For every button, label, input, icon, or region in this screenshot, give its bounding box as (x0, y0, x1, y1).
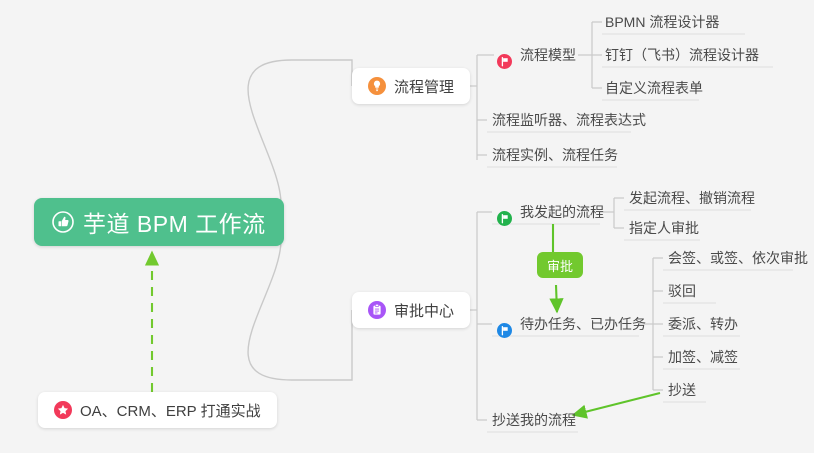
node-custom-form[interactable]: 自定义流程表单 (600, 74, 709, 102)
node-cc[interactable]: 抄送 (663, 376, 702, 404)
node-delegate-transfer[interactable]: 委派、转办 (663, 310, 744, 338)
node-todo-done-tasks[interactable]: 待办任务、已办任务 (492, 310, 652, 338)
tag-label: 审批 (547, 256, 573, 275)
node-label: 委派、转办 (668, 314, 738, 338)
node-label: 流程监听器、流程表达式 (492, 110, 646, 134)
node-instance-task[interactable]: 流程实例、流程任务 (487, 141, 624, 169)
floating-node-integration[interactable]: OA、CRM、ERP 打通实战 (38, 392, 277, 428)
node-reject[interactable]: 驳回 (663, 277, 702, 305)
thumbs-up-icon (52, 211, 74, 233)
node-process-model[interactable]: 流程模型 (492, 41, 582, 69)
node-label: 抄送我的流程 (492, 410, 576, 434)
node-label: 流程实例、流程任务 (492, 145, 618, 169)
lightbulb-icon (368, 77, 386, 95)
floating-node-label: OA、CRM、ERP 打通实战 (80, 400, 261, 421)
node-start-cancel-process[interactable]: 发起流程、撤销流程 (624, 184, 761, 212)
node-label: 发起流程、撤销流程 (629, 188, 755, 212)
tag-approval[interactable]: 审批 (537, 252, 583, 278)
node-label: 驳回 (668, 281, 696, 305)
node-label: 钉钉（飞书）流程设计器 (605, 45, 759, 69)
node-my-initiated-process[interactable]: 我发起的流程 (492, 198, 610, 226)
node-dingtalk-designer[interactable]: 钉钉（飞书）流程设计器 (600, 41, 765, 69)
root-label: 芋道 BPM 工作流 (83, 205, 266, 239)
node-listener-expression[interactable]: 流程监听器、流程表达式 (487, 106, 652, 134)
node-label: 抄送 (668, 380, 696, 404)
node-cc-to-me[interactable]: 抄送我的流程 (487, 406, 582, 434)
branch-process-management[interactable]: 流程管理 (352, 68, 470, 104)
node-label: 加签、减签 (668, 347, 738, 371)
flag-icon (497, 323, 512, 338)
node-add-remove-sign[interactable]: 加签、减签 (663, 343, 744, 371)
flag-icon (497, 211, 512, 226)
node-label: 自定义流程表单 (605, 78, 703, 102)
node-label: 会签、或签、依次审批 (668, 248, 808, 272)
branch-label: 流程管理 (394, 76, 454, 97)
star-icon (54, 401, 72, 419)
node-label: 待办任务、已办任务 (520, 314, 646, 338)
branch-label: 审批中心 (394, 300, 454, 321)
root-node[interactable]: 芋道 BPM 工作流 (34, 198, 284, 246)
node-assignee-approval[interactable]: 指定人审批 (624, 214, 705, 242)
node-bpmn-designer[interactable]: BPMN 流程设计器 (600, 8, 725, 36)
node-label: 指定人审批 (629, 218, 699, 242)
branch-approval-center[interactable]: 审批中心 (352, 292, 470, 328)
mindmap-canvas: 芋道 BPM 工作流 流程管理 流程模型 BPMN 流程设计器 钉钉（飞书）流程 (0, 0, 814, 453)
flag-icon (497, 54, 512, 69)
clipboard-icon (368, 301, 386, 319)
node-label: BPMN 流程设计器 (605, 12, 719, 36)
cc-flow-arrow (573, 393, 660, 415)
node-label: 流程模型 (520, 45, 576, 69)
node-countersign[interactable]: 会签、或签、依次审批 (663, 244, 814, 272)
node-label: 我发起的流程 (520, 202, 604, 226)
